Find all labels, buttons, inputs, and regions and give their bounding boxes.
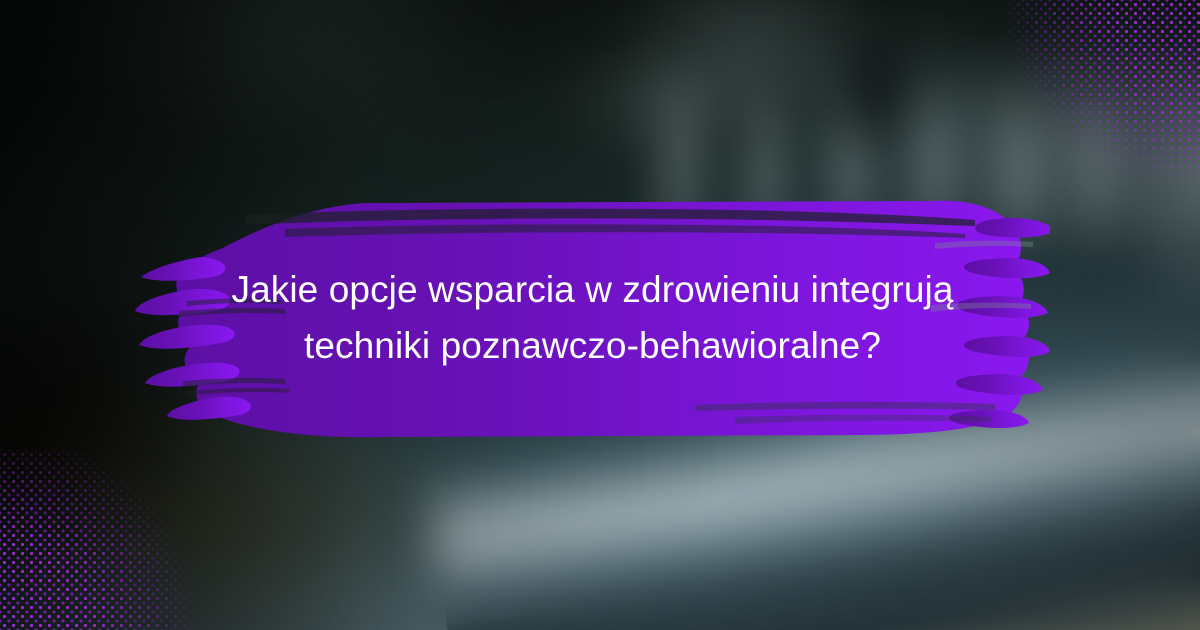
social-card: Jakie opcje wsparcia w zdrowieniu integr…: [0, 0, 1200, 630]
page-title: Jakie opcje wsparcia w zdrowieniu integr…: [231, 262, 953, 374]
headline-line-2: techniki poznawczo-behawioralne?: [231, 318, 953, 374]
headline-block: Jakie opcje wsparcia w zdrowieniu integr…: [135, 185, 1050, 450]
brush-stroke-banner: Jakie opcje wsparcia w zdrowieniu integr…: [135, 185, 1050, 450]
headline-line-1: Jakie opcje wsparcia w zdrowieniu integr…: [231, 269, 953, 310]
